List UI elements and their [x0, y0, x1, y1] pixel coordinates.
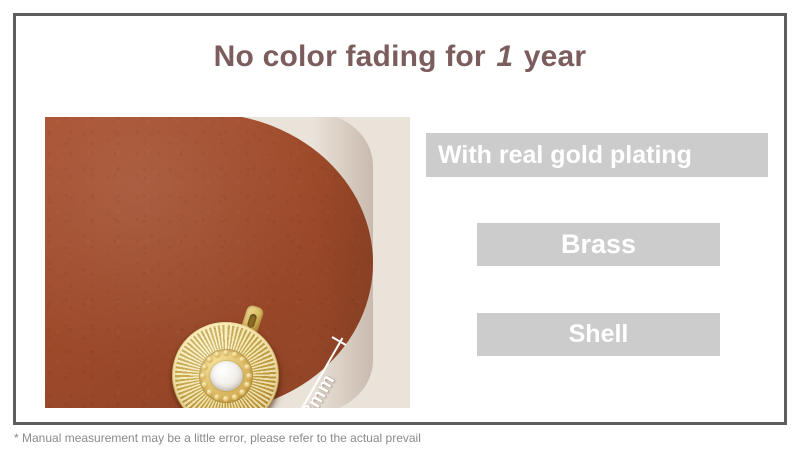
bead [239, 356, 245, 362]
bead [244, 364, 250, 370]
bead [231, 394, 237, 400]
bead [201, 364, 207, 370]
feature-band-material-brass: Brass [477, 223, 720, 266]
dimension-label: 28mm [293, 371, 341, 408]
headline-text-before: No color fading for [214, 40, 486, 73]
bead [239, 389, 245, 395]
feature-band-gold-plating: With real gold plating [426, 133, 768, 177]
headline-text-after: year [524, 40, 587, 73]
page-title: No color fading for 1 year [13, 40, 787, 74]
shell-cabochon [210, 361, 243, 391]
promo-banner: No color fading for 1 year 28mm Wi [0, 0, 800, 450]
feature-label-shell: Shell [569, 320, 629, 349]
bead [223, 350, 229, 356]
bead [200, 373, 206, 379]
bead [231, 351, 237, 357]
product-photo: 28mm [45, 117, 410, 408]
headline-duration-number: 1 [494, 40, 515, 73]
bead [214, 351, 220, 357]
dimension-callout: 28mm [255, 327, 355, 408]
measurement-disclaimer: * Manual measurement may be a little err… [14, 431, 421, 445]
bead [206, 389, 212, 395]
feature-band-material-shell: Shell [477, 313, 720, 356]
bead [206, 356, 212, 362]
bead [201, 381, 207, 387]
feature-label-brass: Brass [561, 229, 636, 260]
feature-label-gold-plating: With real gold plating [438, 141, 692, 170]
bead [246, 373, 252, 379]
bead [244, 381, 250, 387]
bead [223, 396, 229, 402]
bead [214, 394, 220, 400]
